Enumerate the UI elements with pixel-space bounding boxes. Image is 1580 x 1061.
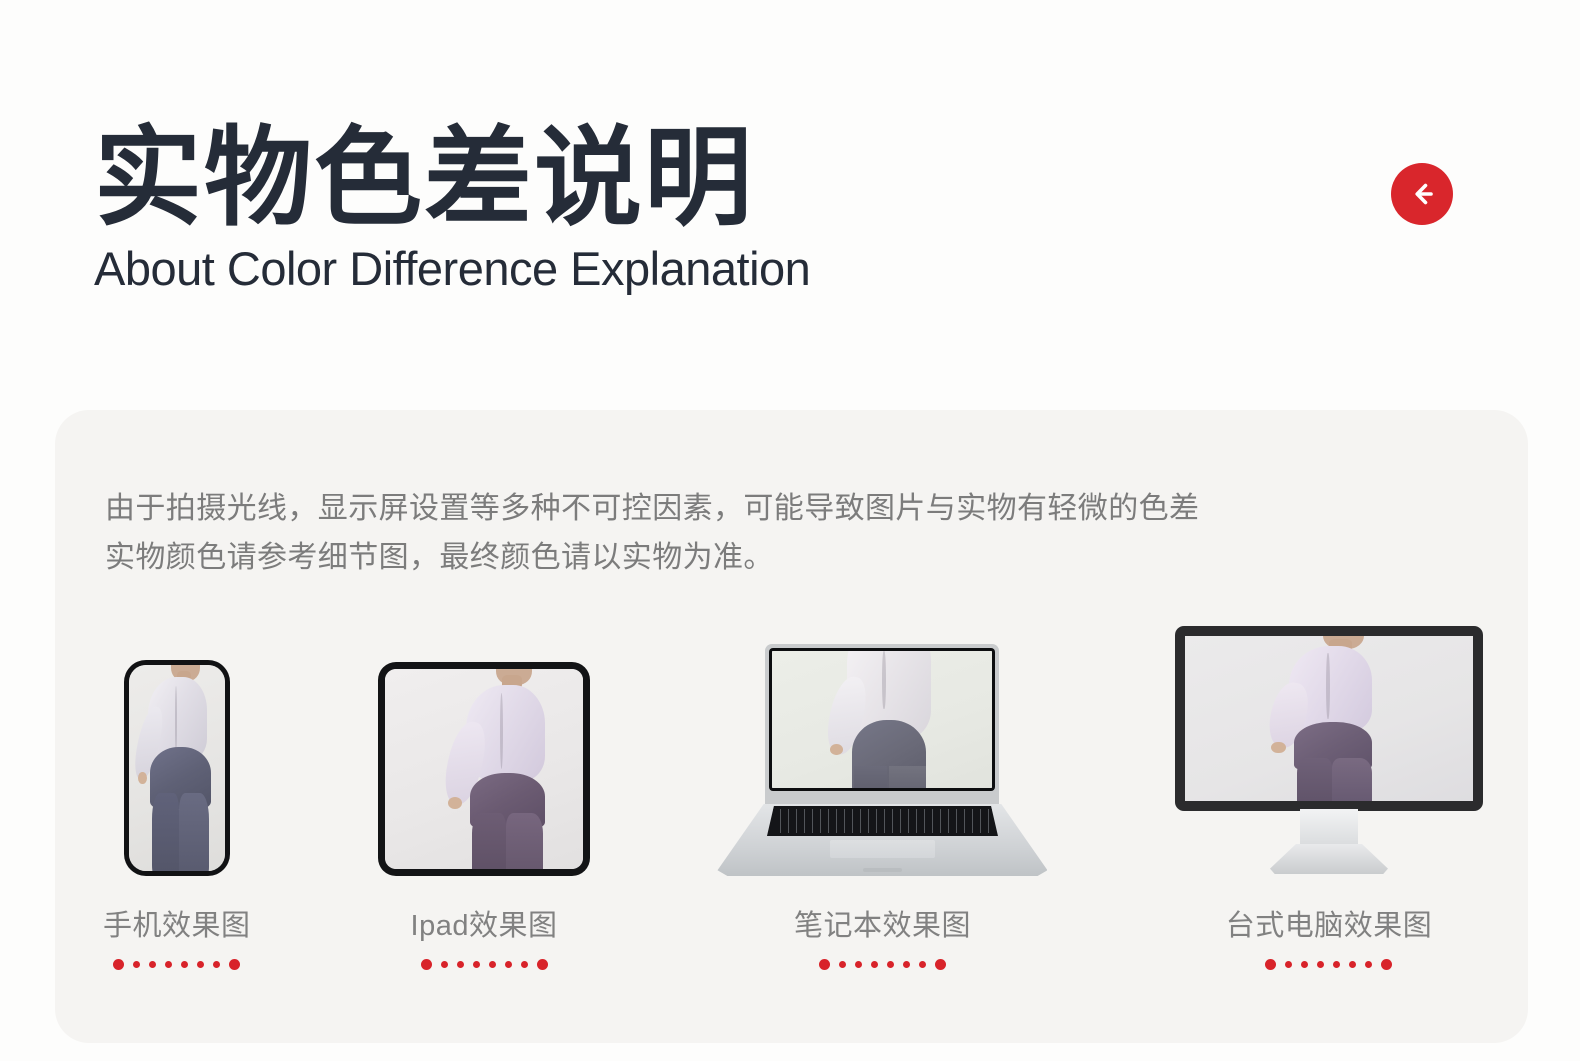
dot xyxy=(855,961,862,968)
dot xyxy=(149,961,156,968)
dot xyxy=(505,961,512,968)
model-leg-left xyxy=(854,766,887,788)
product-photo-tablet xyxy=(385,669,583,869)
model-garment-seam xyxy=(882,651,885,709)
dot xyxy=(1285,961,1292,968)
dot xyxy=(935,959,946,970)
laptop-trackpad xyxy=(830,840,936,858)
description-text: 由于拍摄光线，显示屏设置等多种不可控因素，可能导致图片与实物有轻微的色差 实物颜… xyxy=(105,485,1405,582)
device-label-phone: 手机效果图 xyxy=(103,902,251,944)
arrow-left-icon xyxy=(1405,177,1439,211)
model-hand xyxy=(1271,742,1285,754)
dot xyxy=(871,961,878,968)
device-item-laptop: 笔记本效果图 xyxy=(717,631,1047,970)
laptop-screen xyxy=(772,651,992,788)
model-leg-right xyxy=(1332,758,1372,801)
device-label-tablet: Ipad效果图 xyxy=(411,902,558,944)
product-photo-phone xyxy=(129,665,225,871)
back-button[interactable] xyxy=(1391,163,1453,225)
product-photo-desktop xyxy=(1185,636,1473,801)
model-leg-left xyxy=(472,813,506,869)
dot xyxy=(887,961,894,968)
dot xyxy=(165,961,172,968)
dot-decoration-phone xyxy=(113,958,240,970)
dot xyxy=(537,959,548,970)
dot xyxy=(213,961,220,968)
model-leg-right xyxy=(506,813,544,869)
desktop-monitor-mockup xyxy=(1175,626,1483,876)
dot xyxy=(133,961,140,968)
dot xyxy=(113,959,124,970)
laptop-keys xyxy=(773,809,992,833)
dot xyxy=(1333,961,1340,968)
model-leg-left xyxy=(1297,758,1332,801)
dot-decoration-laptop xyxy=(819,958,946,970)
dot xyxy=(1365,961,1372,968)
dot xyxy=(1301,961,1308,968)
laptop-base xyxy=(717,804,1047,876)
product-photo-laptop xyxy=(772,651,992,788)
laptop-keyboard xyxy=(767,806,998,836)
phone-mockup xyxy=(124,660,230,876)
tablet-screen xyxy=(385,669,583,869)
monitor-stand-neck xyxy=(1300,809,1358,847)
tablet-stage xyxy=(378,631,590,876)
dot xyxy=(229,959,240,970)
device-mockup-row: 手机效果图 xyxy=(103,610,1483,970)
model-hand xyxy=(830,744,843,755)
dot xyxy=(521,961,528,968)
monitor-bezel xyxy=(1175,626,1483,811)
phone-screen xyxy=(129,665,225,871)
dot xyxy=(903,961,910,968)
dot xyxy=(919,961,926,968)
explanation-card: 由于拍摄光线，显示屏设置等多种不可控因素，可能导致图片与实物有轻微的色差 实物颜… xyxy=(55,410,1528,1043)
description-line-1: 由于拍摄光线，显示屏设置等多种不可控因素，可能导致图片与实物有轻微的色差 xyxy=(105,485,1405,534)
device-item-tablet: Ipad效果图 xyxy=(378,631,590,970)
model-leg-right xyxy=(889,766,926,788)
device-item-desktop: 台式电脑效果图 xyxy=(1175,631,1483,970)
monitor-stand-foot xyxy=(1270,844,1388,874)
dot xyxy=(1265,959,1276,970)
color-difference-page: 实物色差说明 About Color Difference Explanatio… xyxy=(0,0,1580,1061)
description-line-2: 实物颜色请参考细节图，最终颜色请以实物为准。 xyxy=(105,534,1405,583)
dot xyxy=(1349,961,1356,968)
model-garment-seam xyxy=(1326,653,1329,719)
page-title-en: About Color Difference Explanation xyxy=(94,243,1454,295)
laptop-mockup xyxy=(717,644,1047,876)
phone-stage xyxy=(124,631,230,876)
dot xyxy=(457,961,464,968)
dot xyxy=(421,959,432,970)
dot xyxy=(197,961,204,968)
monitor-screen xyxy=(1185,636,1473,801)
dot xyxy=(819,959,830,970)
dot xyxy=(441,961,448,968)
dot xyxy=(489,961,496,968)
dot-decoration-tablet xyxy=(421,958,548,970)
device-label-laptop: 笔记本效果图 xyxy=(794,902,971,944)
laptop-lid xyxy=(765,644,999,807)
dot xyxy=(1381,959,1392,970)
page-title-cn: 实物色差说明 xyxy=(94,120,1454,237)
dot xyxy=(473,961,480,968)
tablet-mockup xyxy=(378,662,590,876)
laptop-stage xyxy=(717,631,1047,876)
model-leg-right xyxy=(179,793,210,871)
model-leg-left xyxy=(152,793,179,871)
dot xyxy=(839,961,846,968)
dot-decoration-desktop xyxy=(1265,958,1392,970)
page-header: 实物色差说明 About Color Difference Explanatio… xyxy=(94,120,1454,294)
model-garment-seam xyxy=(500,693,503,769)
desktop-stage xyxy=(1175,631,1483,876)
laptop-lid-inner xyxy=(769,648,995,791)
dot xyxy=(181,961,188,968)
device-label-desktop: 台式电脑效果图 xyxy=(1226,902,1433,944)
laptop-front-notch xyxy=(863,868,903,872)
device-item-phone: 手机效果图 xyxy=(103,631,251,970)
dot xyxy=(1317,961,1324,968)
